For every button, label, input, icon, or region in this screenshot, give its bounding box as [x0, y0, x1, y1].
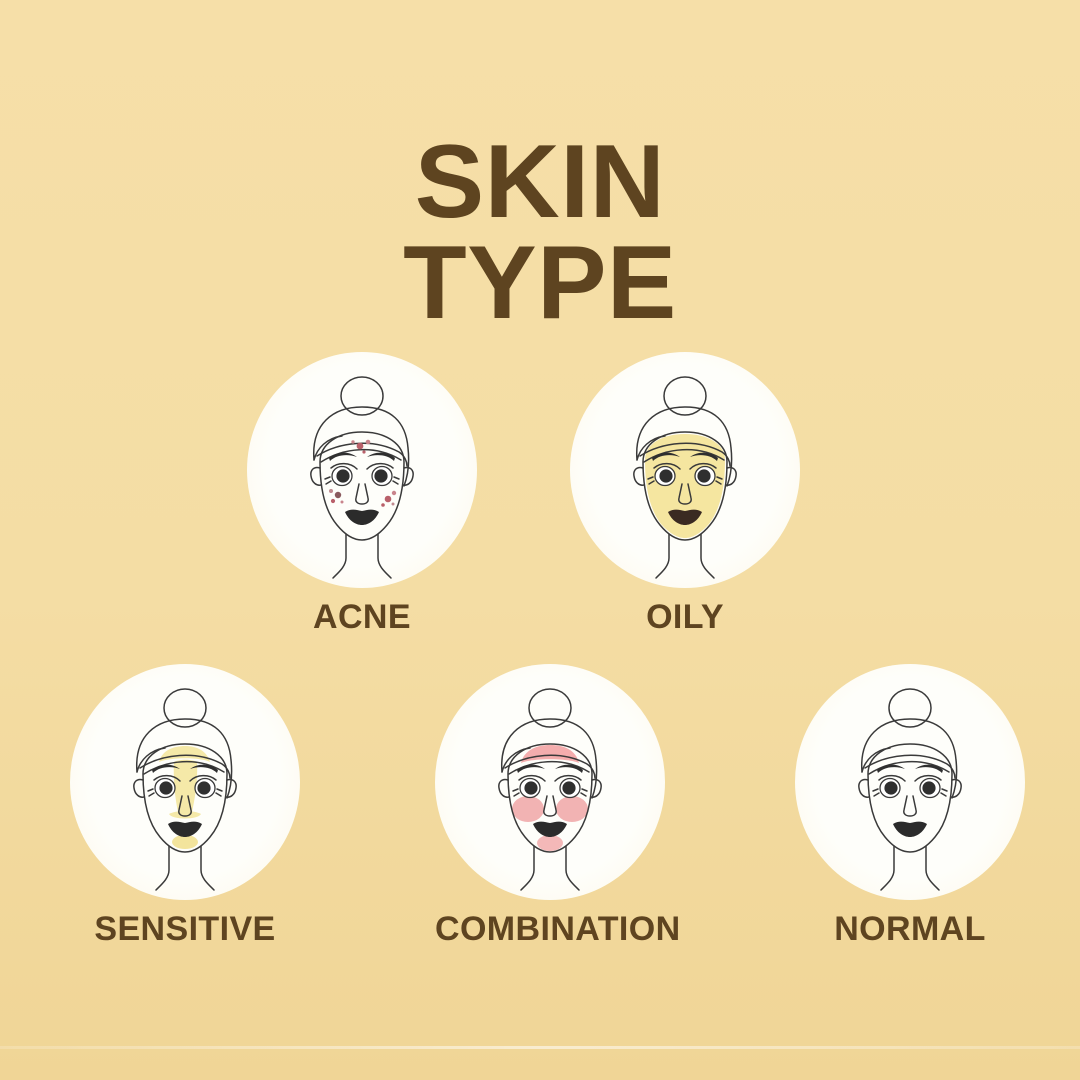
gold-footer-band — [0, 1046, 1080, 1080]
skin-type-card-combination[interactable]: COMBINATION — [435, 664, 665, 949]
infographic-canvas: SKIN TYPE — [0, 0, 1080, 1080]
card-label-oily: OILY — [570, 598, 800, 637]
skin-type-card-normal[interactable]: NORMAL — [795, 664, 1025, 949]
skin-type-card-sensitive[interactable]: SENSITIVE — [70, 664, 300, 949]
card-label-combination: COMBINATION — [435, 910, 665, 949]
title-line-2: TYPE — [0, 233, 1080, 334]
page-title: SKIN TYPE — [0, 132, 1080, 334]
face-illustration-acne — [247, 352, 477, 588]
card-label-sensitive: SENSITIVE — [70, 910, 300, 949]
skin-type-card-acne[interactable]: ACNE — [247, 352, 477, 637]
face-illustration-sensitive — [70, 664, 300, 900]
card-label-acne: ACNE — [247, 598, 477, 637]
title-line-1: SKIN — [415, 124, 665, 240]
face-illustration-normal — [795, 664, 1025, 900]
card-label-normal: NORMAL — [795, 910, 1025, 949]
face-illustration-oily — [570, 352, 800, 588]
skin-type-card-oily[interactable]: OILY — [570, 352, 800, 637]
face-illustration-combination — [435, 664, 665, 900]
